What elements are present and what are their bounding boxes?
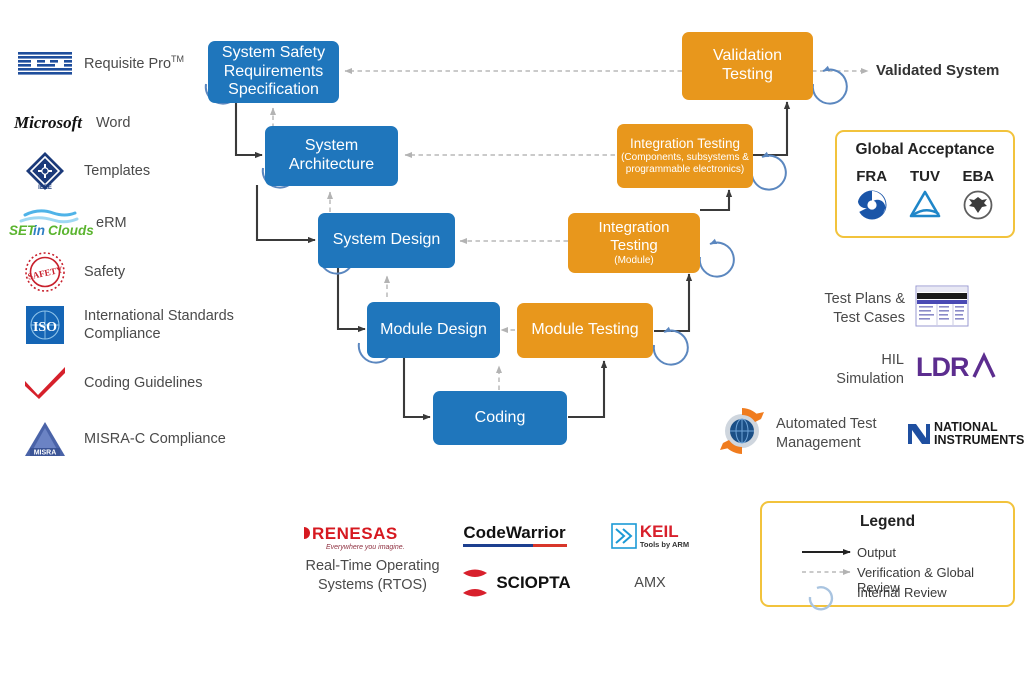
bottom-tool-caption-line: Real-Time Operating [285, 557, 460, 576]
tool-row-erm[interactable]: SET in Clouds eRM [6, 205, 127, 241]
iso-logo-icon: ISO [14, 305, 76, 345]
tool-row-iso[interactable]: ISO International Standards Compliance [14, 305, 269, 345]
tool-row-coding-guidelines[interactable]: Coding Guidelines [14, 365, 203, 401]
legend-panel: Legend Output Verification & Global Revi… [760, 501, 1015, 607]
legend-title: Legend [762, 513, 1013, 531]
tool-label: Safety [84, 263, 125, 281]
stage-label-line: Testing [610, 237, 658, 255]
sciopta-logo-icon: SCIOPTA [452, 563, 577, 603]
tool-label-line: HIL [820, 351, 904, 370]
trademark-superscript: TM [171, 54, 184, 64]
tool-row-hil-simulation[interactable]: HIL Simulation LDR [820, 350, 996, 389]
stage-box-integration-testing-module[interactable]: Integration Testing (Module) [568, 213, 700, 273]
bottom-tool-caption-line: Systems (RTOS) [285, 576, 460, 595]
tool-row-word[interactable]: Microsoft Word [8, 113, 130, 133]
spreadsheet-icon [915, 285, 969, 332]
tool-label: Coding Guidelines [84, 374, 203, 392]
stage-box-module-testing[interactable]: Module Testing [517, 303, 653, 358]
ieee-logo-icon: IEEE [14, 150, 76, 192]
tuv-triangle-icon [906, 188, 944, 227]
tool-label: eRM [96, 214, 127, 232]
safety-stamp-icon: SAFETY [14, 250, 76, 294]
tool-label-line: Test Plans & [795, 290, 905, 309]
svg-text:Clouds: Clouds [48, 223, 94, 238]
tool-label: Requisite Pro [84, 55, 171, 71]
svg-text:RENESAS: RENESAS [312, 524, 398, 543]
acceptance-code: EBA [959, 168, 997, 185]
global-acceptance-panel: Global Acceptance FRA TUV [835, 130, 1015, 238]
tool-row-automated-test-management[interactable]: Automated Test Management NATIONAL INSTR… [716, 405, 1024, 462]
legend-item-output: Output [857, 545, 896, 560]
stage-label-line: Integration [599, 219, 670, 237]
bottom-tool-codewarrior[interactable]: CodeWarrior SCIOPTA [452, 523, 577, 603]
svg-text:IEEE: IEEE [38, 185, 52, 191]
stage-sublabel: (Components, subsystems & programmable e… [621, 152, 749, 176]
renesas-logo-icon: RENESAS Everywhere you imagine. [285, 523, 460, 553]
stage-label-line: Specification [228, 81, 319, 100]
tool-label-line: Automated Test [776, 415, 896, 434]
automation-globe-icon [716, 405, 768, 462]
acceptance-entry-eba[interactable]: EBA [959, 168, 997, 227]
tool-label: International Standards Compliance [84, 308, 234, 342]
diagram-canvas: System Safety Requirements Specification… [0, 0, 1024, 687]
misra-logo-icon: MISRA [14, 418, 76, 460]
svg-text:MISRA: MISRA [34, 450, 57, 457]
svg-text:in: in [33, 223, 45, 238]
eba-eagle-icon [959, 188, 997, 227]
stage-label-line: Validation [713, 47, 782, 66]
svg-text:ISO: ISO [33, 320, 57, 335]
bottom-tool-rtos[interactable]: RENESAS Everywhere you imagine. Real-Tim… [285, 523, 460, 595]
acceptance-entry-fra[interactable]: FRA [853, 168, 891, 227]
stage-box-system-design[interactable]: System Design [318, 213, 455, 268]
stage-label-line: Coding [475, 409, 526, 428]
national-instruments-logo-icon: NATIONAL INSTRUMENTS [906, 421, 1024, 447]
tool-label-line: Test Cases [795, 309, 905, 328]
stage-label-line: System [305, 137, 358, 156]
legend-item-internal-review: Internal Review [857, 585, 947, 600]
acceptance-code: FRA [853, 168, 891, 185]
tool-row-test-plans[interactable]: Test Plans & Test Cases [795, 285, 969, 332]
stage-box-module-design[interactable]: Module Design [367, 302, 500, 358]
svg-text:LDR: LDR [916, 352, 969, 382]
tool-row-safety[interactable]: SAFETY Safety [14, 250, 125, 294]
tool-row-requisite-pro[interactable]: Requisite ProTM [14, 50, 184, 76]
stage-label-line: System Design [333, 231, 441, 250]
stage-box-system-architecture[interactable]: System Architecture [265, 126, 398, 186]
sciopta-wordmark: SCIOPTA [496, 573, 570, 593]
tool-label-line: Simulation [820, 370, 904, 389]
fra-swirl-icon [853, 188, 891, 227]
acceptance-code: TUV [906, 168, 944, 185]
stage-label-line: Testing [722, 66, 773, 85]
microsoft-logo-icon: Microsoft [8, 113, 88, 133]
bottom-tool-keil[interactable]: KEIL Tools by ARM AMX [600, 523, 700, 593]
tool-label: MISRA-C Compliance [84, 430, 226, 448]
validated-system-label: Validated System [876, 62, 999, 79]
setinclouds-logo-icon: SET in Clouds [6, 205, 94, 241]
stage-box-coding[interactable]: Coding [433, 391, 567, 445]
codewarrior-wordmark: CodeWarrior [452, 523, 577, 543]
red-check-icon [14, 365, 76, 401]
ni-line-1: NATIONAL [934, 421, 1024, 434]
ni-line-2: INSTRUMENTS [934, 434, 1024, 447]
svg-text:Everywhere you imagine.: Everywhere you imagine. [326, 544, 405, 551]
codewarrior-logo-icon: CodeWarrior [452, 523, 577, 551]
tool-label-line: Management [776, 434, 896, 453]
stage-label-line: Module Design [380, 321, 487, 340]
stage-label-line: System Safety [222, 44, 325, 63]
tool-row-templates[interactable]: IEEE Templates [14, 150, 150, 192]
tool-row-misra[interactable]: MISRA MISRA-C Compliance [14, 418, 226, 460]
bottom-tool-caption-line: AMX [600, 574, 700, 593]
stage-label-line: Requirements [224, 63, 324, 82]
stage-box-validation-testing[interactable]: Validation Testing [682, 32, 813, 100]
ldra-logo-icon: LDR [916, 350, 996, 389]
acceptance-entry-tuv[interactable]: TUV [906, 168, 944, 227]
stage-box-system-safety-requirements[interactable]: System Safety Requirements Specification [208, 41, 339, 103]
ibm-logo-icon [14, 50, 76, 76]
tool-label: Word [96, 114, 130, 132]
stage-label-line: Module Testing [531, 321, 638, 340]
stage-sublabel: (Module) [614, 255, 653, 267]
global-acceptance-title: Global Acceptance [845, 141, 1005, 159]
keil-wordmark: KEIL [640, 523, 689, 541]
keil-tagline: Tools by ARM [640, 541, 689, 549]
keil-logo-icon: KEIL Tools by ARM [600, 523, 700, 549]
tool-label: Templates [84, 162, 150, 180]
stage-box-integration-testing-components[interactable]: Integration Testing (Components, subsyst… [617, 124, 753, 188]
stage-label-line: Architecture [289, 156, 374, 175]
stage-label-line: Integration Testing [630, 136, 740, 152]
